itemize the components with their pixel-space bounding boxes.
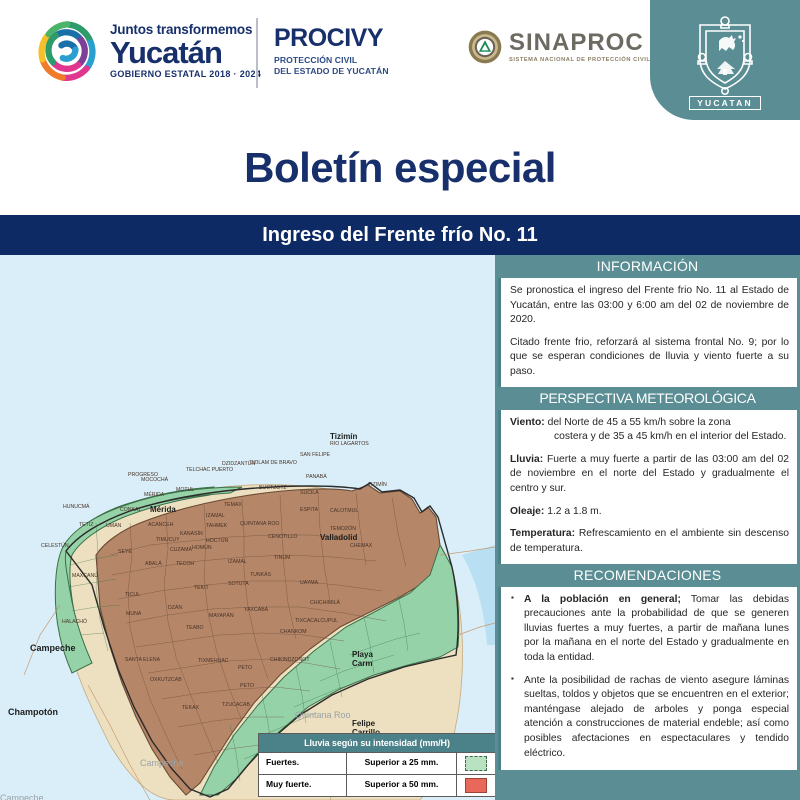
- sinaproc-tagline: SISTEMA NACIONAL DE PROTECCIÓN CIVIL: [509, 57, 650, 63]
- informacion-body: Se pronostica el ingreso del Frente frio…: [498, 278, 797, 387]
- map-label-buctzotz: BUCTZOTZ: [259, 485, 287, 491]
- yucatan-logo-line2: Yucatán: [110, 38, 261, 67]
- oleaje-entry: Oleaje: 1.2 a 1.8 m.: [510, 505, 789, 520]
- yucatan-logo-line3: GOBIERNO ESTATAL 2018 · 2024: [110, 70, 261, 79]
- perspectiva-heading: PERSPECTIVA METEOROLÓGICA: [495, 387, 800, 410]
- map-label-calotmul: CALOTMUL: [330, 508, 358, 514]
- recomendaciones-body: A la población en general; Tomar las deb…: [498, 587, 797, 771]
- map-label-dzidzantun: DZIDZANTÚN: [222, 461, 255, 467]
- map-label-maxcanu: MAXCANÚ: [72, 573, 98, 579]
- viento-label: Viento:: [510, 417, 545, 428]
- map-label-tahmek: TAHMEK: [206, 523, 227, 529]
- list-item: Ante la posibilidad de rachas de viento …: [510, 674, 789, 762]
- subtitle-bar: Ingreso del Frente frío No. 11: [0, 215, 800, 255]
- map-label-tekax: TEKAX: [182, 705, 199, 711]
- legend-swatch-muy-fuerte: [465, 778, 487, 793]
- map-label-rio-lagartos: RIO LAGARTOS: [330, 441, 369, 447]
- rec-text-2: Ante la posibilidad de rachas de viento …: [524, 675, 789, 759]
- viento-entry: Viento: del Norte de 45 a 55 km/h sobre …: [510, 416, 789, 445]
- map-graphic: [0, 255, 495, 800]
- page-title: Boletín especial: [244, 144, 556, 192]
- map-label-homun: HOMÚN: [192, 545, 212, 551]
- map-label-tinum: TINUM: [274, 555, 290, 561]
- map-label-tixcacalcupul: TIXCACALCUPUL: [295, 618, 338, 624]
- info-panel: INFORMACIÓN Se pronostica el ingreso del…: [495, 255, 800, 800]
- sinaproc-logo: SINAPROC SISTEMA NACIONAL DE PROTECCIÓN …: [468, 30, 650, 64]
- map-label-san-felipe: SAN FELIPE: [300, 452, 330, 458]
- map-label-hunucma: HUNUCMÁ: [63, 504, 90, 510]
- map-label-dzilam-de-bravo: DZILAM DE BRAVO: [250, 460, 297, 466]
- legend-title: Lluvia según su intensidad (mm/H): [259, 734, 495, 752]
- map-label-uman: UMÁN: [106, 523, 121, 529]
- page-header: Juntos transformemos Yucatán GOBIERNO ES…: [0, 0, 800, 120]
- map-label-muna: MUNA: [126, 611, 141, 617]
- map-label-chichimila: CHICHIMILÁ: [310, 600, 340, 606]
- title-zone: Boletín especial: [0, 120, 800, 215]
- sinaproc-name: SINAPROC: [509, 31, 650, 55]
- map-label-chankom: CHANKOM: [280, 629, 307, 635]
- procivy-line2: DEL ESTADO DE YUCATÁN: [274, 66, 389, 77]
- viento-text2: costera y de 35 a 45 km/h en el interior…: [510, 430, 789, 445]
- legend-swatch-cell-muy-fuerte: [457, 775, 495, 796]
- procivy-name: PROCIVY: [274, 26, 389, 51]
- map-label-valladolid: Valladolid: [320, 533, 357, 542]
- map-label-sucila: SUCILÁ: [300, 490, 319, 496]
- map-label-izamal: IZAMAL: [228, 559, 247, 565]
- map-label-uayma: UAYMA: [300, 580, 318, 586]
- map-label-conkal: CONKAL: [120, 507, 141, 513]
- procivy-line1: PROTECCIÓN CIVIL: [274, 55, 389, 66]
- map-label-ticul: TICUL: [125, 592, 140, 598]
- map-label-sotuta: SOTUTA: [228, 581, 249, 587]
- map-label-quintana-roo-muni: QUINTANA ROO: [240, 521, 279, 527]
- map-label-celestun: CELESTÚN: [41, 543, 69, 549]
- map-label-tizimin-city: Tizimín: [330, 432, 357, 441]
- map-label-izamal2: IZAMAL: [206, 513, 225, 519]
- page-subtitle: Ingreso del Frente frío No. 11: [262, 224, 538, 247]
- map-label-tetiz: TETIZ: [79, 522, 93, 528]
- map-label-champoton: Champotón: [8, 707, 58, 717]
- map-label-cuzama: CUZAMÁ: [170, 547, 192, 553]
- map-label-telchac: TELCHAC PUERTO: [186, 467, 233, 473]
- informacion-paragraph-1: Se pronostica el ingreso del Frente frio…: [510, 284, 789, 328]
- map-label-dzan: DZÁN: [168, 605, 182, 611]
- oleaje-text: 1.2 a 1.8 m.: [547, 506, 601, 517]
- legend-swatch-fuertes: [465, 756, 487, 771]
- bulletin-page: Juntos transformemos Yucatán GOBIERNO ES…: [0, 0, 800, 800]
- viento-text: del Norte de 45 a 55 km/h sobre la zona: [548, 417, 731, 428]
- recomendaciones-list: A la población en general; Tomar las deb…: [510, 593, 789, 762]
- map-label-tunkas: TUNKÁS: [250, 572, 271, 578]
- map-label-campeche-state: Campeche: [140, 758, 184, 768]
- map-label-mayapan: MAYAPÁN: [209, 613, 234, 619]
- informacion-paragraph-2: Citado frente frio, reforzará al sistema…: [510, 336, 789, 380]
- map-label-temozon: TEMOZÓN: [330, 526, 356, 532]
- map-label-cenotillo: CENOTILLO: [268, 534, 297, 540]
- oleaje-label: Oleaje:: [510, 506, 544, 517]
- map-label-merida: Mérida: [150, 505, 176, 514]
- map-label-temax: TEMAX: [224, 502, 242, 508]
- map-label-tixmehuac: TIXMEHUAC: [198, 658, 229, 664]
- map-label-yaxcaba: YAXCABÁ: [244, 607, 268, 613]
- map-label-seye: SEYÉ: [118, 549, 132, 555]
- map-label-merida-muni: MÉRIDA: [144, 492, 164, 498]
- legend-intensity-muy-fuerte: Muy fuerte.: [259, 775, 347, 796]
- map-label-tekit: TEKIT: [194, 585, 209, 591]
- map-label-timucuy: TIMUCUY: [156, 537, 180, 543]
- legend-swatch-cell-fuertes: [457, 753, 495, 774]
- map-label-chikindzonot: CHIKINDZONOT: [270, 657, 309, 663]
- map-label-chemax: CHEMAX: [350, 543, 372, 549]
- map-label-teabo: TEABO: [186, 625, 204, 631]
- procivy-logo: PROCIVY PROTECCIÓN CIVIL DEL ESTADO DE Y…: [274, 26, 389, 77]
- yucatan-state-crest: YUCATAN: [650, 0, 800, 120]
- map-label-tizimin-muni: TIZIMÍN: [368, 482, 387, 488]
- recomendaciones-heading: RECOMENDACIONES: [495, 564, 800, 587]
- yucatan-government-logo: Juntos transformemos Yucatán GOBIERNO ES…: [32, 16, 261, 86]
- state-shield-icon: [688, 11, 762, 95]
- list-item: A la población en general; Tomar las deb…: [510, 593, 789, 666]
- map-label-oxkutzcab: OXKUTZCAB: [150, 677, 182, 683]
- map-label-peto2: PETO: [238, 665, 252, 671]
- map-label-peto: PETO: [240, 683, 254, 689]
- lluvia-entry: Lluvia: Fuerte a muy fuerte a partir de …: [510, 453, 789, 497]
- legend-threshold-fuertes: Superior a 25 mm.: [347, 753, 457, 774]
- map-label-santa-elena: SANTA ELENA: [125, 657, 160, 663]
- rainfall-map[interactable]: Campeche Champotón PlayaCarm FelipeCarri…: [0, 255, 495, 800]
- sinaproc-seal-icon: [468, 30, 502, 64]
- lluvia-text: Fuerte a muy fuerte a partir de las 03:0…: [510, 454, 789, 494]
- map-label-motul: MOTUL: [176, 487, 194, 493]
- map-label-espita: ESPITA: [300, 507, 318, 513]
- perspectiva-body: Viento: del Norte de 45 a 55 km/h sobre …: [498, 410, 797, 564]
- legend-intensity-fuertes: Fuertes.: [259, 753, 347, 774]
- map-label-playa-del-carmen: PlayaCarm: [352, 650, 373, 668]
- informacion-heading: INFORMACIÓN: [495, 255, 800, 278]
- map-label-mococha: MOCOCHÁ: [141, 477, 168, 483]
- header-divider: [256, 18, 258, 88]
- legend-threshold-muy-fuerte: Superior a 50 mm.: [347, 775, 457, 796]
- map-label-campeche-state2: Campeche: [0, 793, 44, 800]
- map-label-panaba: PANABÁ: [306, 474, 327, 480]
- map-label-tecoh: TECOH: [176, 561, 194, 567]
- temperatura-label: Temperatura:: [510, 528, 575, 539]
- map-label-abala: ABALÁ: [145, 561, 162, 567]
- lluvia-label: Lluvia:: [510, 454, 543, 465]
- map-label-hoctun: HOCTÚN: [206, 538, 228, 544]
- crest-label: YUCATAN: [689, 96, 761, 110]
- map-label-campeche-city: Campeche: [30, 643, 76, 653]
- map-label-tzucacab: TZUCACAB: [222, 702, 250, 708]
- map-legend: Lluvia según su intensidad (mm/H) Fuerte…: [258, 733, 495, 797]
- body-zone: Campeche Champotón PlayaCarm FelipeCarri…: [0, 255, 800, 800]
- map-label-kanasin: KANASÍN: [180, 531, 203, 537]
- legend-row-fuertes: Fuertes. Superior a 25 mm.: [259, 752, 495, 774]
- map-label-quintana-roo: Quintana Roo: [295, 710, 351, 720]
- temperatura-entry: Temperatura: Refrescamiento en el ambien…: [510, 527, 789, 556]
- map-label-halacho: HALACHÓ: [62, 619, 87, 625]
- legend-row-muy-fuerte: Muy fuerte. Superior a 50 mm.: [259, 774, 495, 796]
- rec-bold-1: A la población en general;: [524, 594, 681, 605]
- yucatan-knot-icon: [32, 16, 102, 86]
- map-label-acanceh: ACANCEH: [148, 522, 173, 528]
